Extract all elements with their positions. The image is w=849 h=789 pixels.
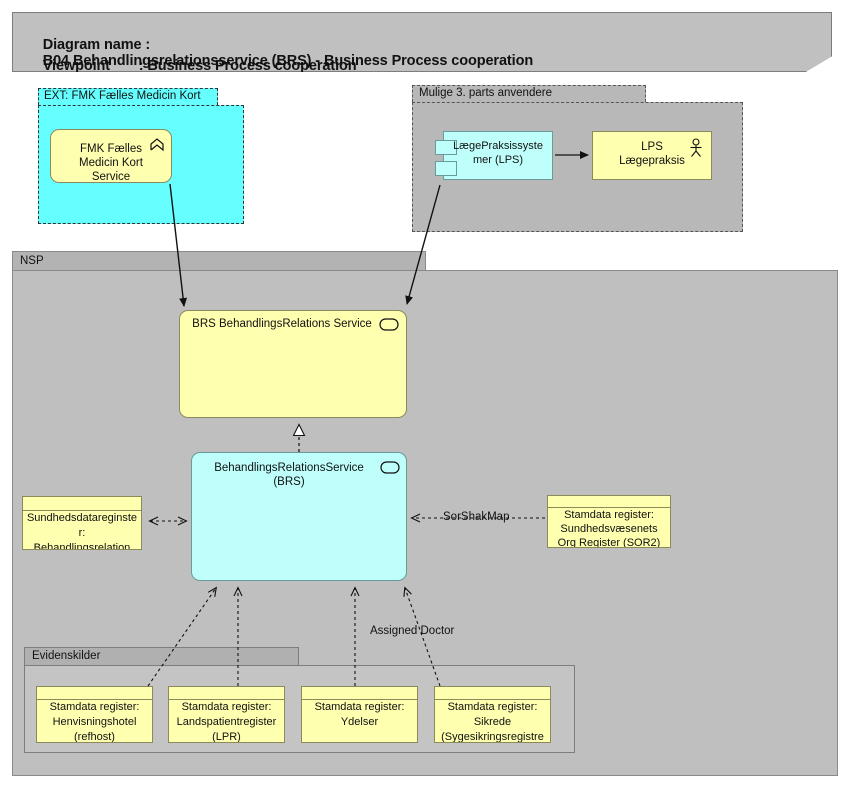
element-lps-laegepraksis[interactable]: LPS Lægepraksis	[592, 131, 712, 180]
element-fmk-faelles-medicin-kort-service[interactable]: FMK Fælles Medicin Kort Service	[50, 129, 172, 183]
evidenskilder-box-label: Stamdata register: Landspatientregister …	[169, 700, 284, 743]
element-stamdata-register-henvisningshotel[interactable]: Stamdata register: Henvisningshotel (ref…	[36, 686, 153, 743]
lps-component-label: LægePraksissyste mer (LPS)	[444, 139, 552, 167]
brs-inner-title: BehandlingsRelationsService (BRS)	[192, 461, 406, 489]
group-tab-third-party-users[interactable]: Mulige 3. parts anvendere	[412, 85, 646, 102]
element-header-strip	[37, 687, 152, 700]
element-stamdata-register-ydelser[interactable]: Stamdata register: Ydelser	[301, 686, 418, 743]
connector-label-sorshakmap: SorShakMap	[443, 511, 509, 523]
element-sundhedsdataregister-behandlingsrelation[interactable]: Sundhedsdatareginste r: Behandlingsrelat…	[22, 496, 142, 550]
diagram-title-banner: Diagram name : B04 Behandlingsrelationss…	[12, 12, 832, 72]
viewpoint-line: Viewpoint: Business Process cooperation	[27, 42, 357, 90]
element-header-strip	[23, 497, 141, 511]
element-stamdata-register-sor2[interactable]: Stamdata register: Sundhedsvæsenets Org …	[547, 495, 671, 548]
group-tab-ext-fmk[interactable]: EXT: FMK Fælles Medicin Kort	[38, 88, 218, 105]
sundhedsdataregister-label: Sundhedsdatareginste r: Behandlingsrelat…	[23, 511, 141, 550]
application-service-chevron-icon	[149, 137, 165, 153]
actor-stick-figure-icon	[688, 138, 704, 158]
element-header-strip	[548, 496, 670, 508]
evidenskilder-box-label: Stamdata register: Henvisningshotel (ref…	[37, 700, 152, 743]
brs-service-title: BRS BehandlingsRelations Service	[180, 317, 406, 331]
group-label-third-party-users: Mulige 3. parts anvendere	[419, 87, 552, 99]
group-label-ext-fmk: EXT: FMK Fælles Medicin Kort	[44, 90, 201, 102]
element-brs-behandlingsrelations-service[interactable]: BRS BehandlingsRelations Service	[179, 310, 407, 418]
rounded-oval-service-icon	[379, 318, 399, 331]
element-header-strip	[435, 687, 550, 700]
group-tab-nsp[interactable]: NSP	[12, 251, 426, 270]
element-laegepraksissystemer-lps[interactable]: LægePraksissyste mer (LPS)	[443, 131, 553, 180]
viewpoint-label: Viewpoint	[43, 58, 139, 74]
group-label-nsp: NSP	[20, 255, 44, 267]
group-tab-evidenskilder[interactable]: Evidenskilder	[24, 647, 299, 665]
evidenskilder-box-label: Stamdata register: Ydelser	[302, 700, 417, 730]
evidenskilder-box-label: Stamdata register: Sikrede (Sygesikrings…	[435, 700, 550, 743]
group-label-evidenskilder: Evidenskilder	[32, 650, 100, 662]
element-header-strip	[302, 687, 417, 700]
element-behandlingsrelationsservice-brs[interactable]: BehandlingsRelationsService (BRS)	[191, 452, 407, 581]
element-stamdata-register-landspatientregister[interactable]: Stamdata register: Landspatientregister …	[168, 686, 285, 743]
connector-label-assigned-doctor: Assigned Doctor	[370, 625, 454, 637]
sor2-label: Stamdata register: Sundhedsvæsenets Org …	[548, 508, 670, 548]
element-header-strip	[169, 687, 284, 700]
viewpoint-value: Business Process cooperation	[147, 58, 356, 74]
element-stamdata-register-sikrede[interactable]: Stamdata register: Sikrede (Sygesikrings…	[434, 686, 551, 743]
rounded-oval-service-icon	[380, 461, 400, 474]
